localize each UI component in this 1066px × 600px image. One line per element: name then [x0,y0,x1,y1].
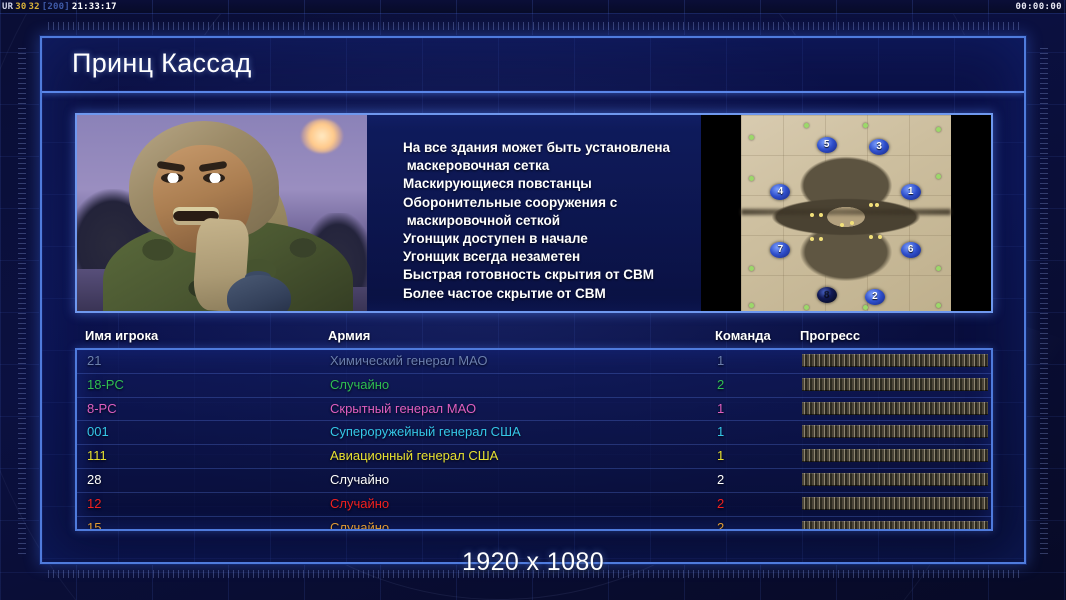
supply-dock-marker [936,303,941,308]
start-position-marker-2[interactable]: 2 [865,289,885,305]
player-name: 21 [87,353,101,368]
progress-bar [802,497,988,510]
player-team: 2 [717,377,724,392]
start-position-marker-6[interactable]: 6 [901,242,921,258]
progress-bar [802,425,988,438]
player-name: 111 [87,448,107,463]
general-portrait [77,115,367,311]
player-army: Скрытный генерал МАО [330,401,476,416]
start-position-marker-3[interactable]: 3 [869,139,889,155]
description-line: маскировочной сеткой [403,212,691,230]
resolution-label: 1920 x 1080 [0,548,1066,577]
loading-screen: UR3032[200]21:33:17 00:00:00 Принц Касса… [0,0,1066,600]
supply-dock-marker [749,303,754,308]
supply-dock-marker [749,266,754,271]
top-status-bar: UR3032[200]21:33:17 00:00:00 [0,0,1066,14]
progress-bar [802,378,988,391]
description-line: Оборонительные сооружения с [403,194,691,212]
player-team: 1 [717,448,724,463]
player-table-body: 21Химический генерал МАО118-PCСлучайно28… [75,348,993,531]
ruler-left-icon [18,48,26,554]
player-team: 2 [717,472,724,487]
title-bar: Принц Кассад [42,38,1024,93]
progress-bar [802,521,988,531]
description-line: маскеровочная сетка [403,157,691,175]
start-position-marker-1[interactable]: 1 [901,184,921,200]
progress-bar [802,402,988,415]
description-line: Угонщик всегда незаметен [403,248,691,266]
oil-derrick-marker [810,213,814,217]
start-position-marker-5[interactable]: 5 [817,137,837,153]
progress-bar [802,449,988,462]
player-name: 8-PC [87,401,117,416]
player-team: 1 [717,424,724,439]
player-team: 1 [717,353,724,368]
table-row: 12Случайно2 [77,493,991,517]
table-row: 18-PCСлучайно2 [77,374,991,398]
player-name: 15 [87,520,101,531]
header-army: Армия [328,328,370,343]
player-army: Супероружейный генерал США [330,424,521,439]
supply-dock-marker [936,174,941,179]
faction-description: На все здания может быть установлена мас… [367,115,701,311]
eye-left [161,173,183,183]
player-army: Случайно [330,520,389,531]
player-army: Случайно [330,496,389,511]
description-line: Быстрая готовность скрытия от СВМ [403,266,691,284]
table-row: 111Авиационный генерал США1 [77,445,991,469]
oil-derrick-marker [819,213,823,217]
ruler-top-icon [48,22,1020,30]
player-name: 12 [87,496,101,511]
player-army: Случайно [330,472,389,487]
oil-derrick-marker [810,237,814,241]
page-title: Принц Кассад [72,48,252,79]
debug-bracket: [200] [42,2,70,12]
player-army: Случайно [330,377,389,392]
supply-dock-marker [936,266,941,271]
supply-dock-marker [749,135,754,140]
start-position-marker-8[interactable]: 8 [817,287,837,303]
description-line: Более частое скрытие от СВМ [403,285,691,303]
header-progress: Прогресс [800,328,860,343]
description-line: Угонщик доступен в начале [403,230,691,248]
supply-dock-marker [863,123,868,128]
description-line: На все здания может быть установлена [403,139,691,157]
minimap-image: 53417682 [741,115,951,311]
progress-bar [802,354,988,367]
oil-derrick-marker [869,235,873,239]
oil-derrick-marker [819,237,823,241]
player-team: 2 [717,496,724,511]
ruler-right-icon [1040,48,1048,554]
header-team: Команда [715,328,771,343]
player-name: 28 [87,472,101,487]
player-name: 001 [87,424,109,439]
header-player-name: Имя игрока [85,328,158,343]
system-clock: 21:33:17 [72,2,117,12]
oil-derrick-marker [840,223,844,227]
start-position-marker-4[interactable]: 4 [770,184,790,200]
table-row: 15Случайно2 [77,517,991,531]
oil-derrick-marker [878,235,882,239]
debug-stats: UR3032[200]21:33:17 [2,0,119,14]
supply-dock-marker [749,176,754,181]
player-army: Химический генерал МАО [330,353,488,368]
debug-value-2: 32 [29,2,40,12]
supply-dock-marker [863,305,868,310]
faction-info-band: На все здания может быть установлена мас… [75,113,993,313]
debug-tag: UR [2,2,13,12]
description-line: Маскирующиеся повстанцы [403,175,691,193]
debug-value-1: 30 [15,2,26,12]
player-team: 2 [717,520,724,531]
main-panel: Принц Кассад На все здания [40,36,1026,564]
player-army: Авиационный генерал США [330,448,498,463]
oil-derrick-marker [875,203,879,207]
supply-dock-marker [804,305,809,310]
sun-decoration [301,119,343,153]
supply-dock-marker [804,123,809,128]
elapsed-timer: 00:00:00 [1015,0,1062,14]
table-row: 28Случайно2 [77,469,991,493]
start-position-marker-7[interactable]: 7 [770,242,790,258]
supply-dock-marker [936,127,941,132]
minimap-container: 53417682 [701,115,991,311]
player-name: 18-PC [87,377,124,392]
player-table-header: Имя игрока Армия Команда Прогресс [75,326,993,348]
progress-bar [802,473,988,486]
table-row: 001Супероружейный генерал США1 [77,421,991,445]
oil-derrick-marker [869,203,873,207]
oil-derrick-marker [850,221,854,225]
table-row: 8-PCСкрытный генерал МАО1 [77,398,991,422]
player-team: 1 [717,401,724,416]
eye-right [203,173,225,183]
table-row: 21Химический генерал МАО1 [77,350,991,374]
